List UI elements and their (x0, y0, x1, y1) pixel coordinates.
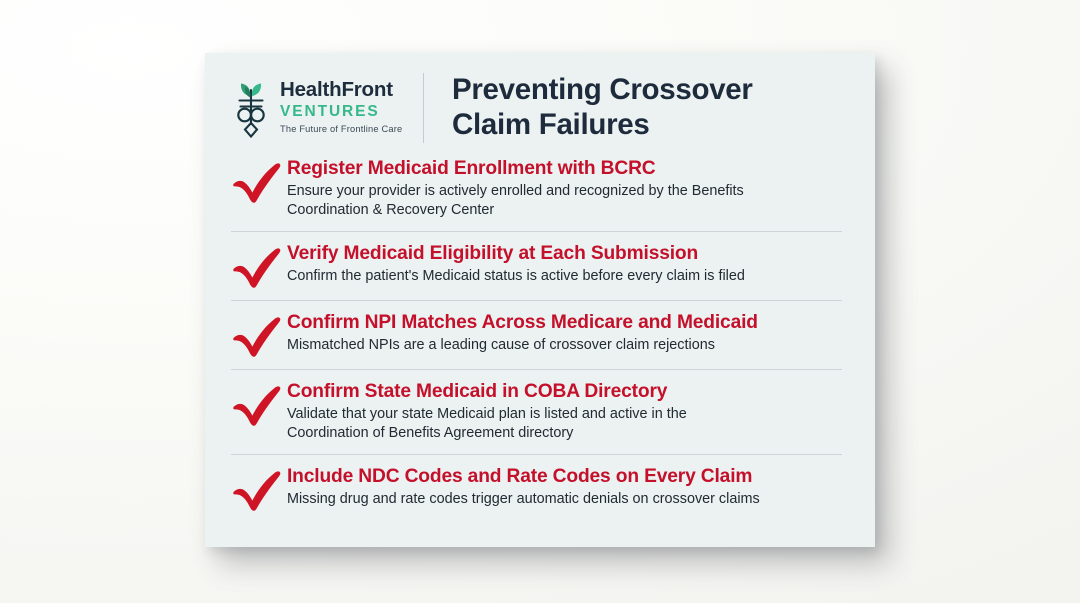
infographic-card: HealthFront VENTURES The Future of Front… (205, 53, 875, 547)
red-checkmark-icon (231, 312, 287, 358)
list-item-description: Ensure your provider is actively enrolle… (287, 182, 842, 220)
caduceus-leaf-icon (231, 77, 271, 139)
list-item-title: Confirm State Medicaid in COBA Directory (287, 381, 842, 403)
list-item-description: Validate that your state Medicaid plan i… (287, 405, 842, 443)
list-item-title: Confirm NPI Matches Across Medicare and … (287, 312, 842, 334)
page-title: Preventing Crossover Claim Failures (452, 73, 753, 143)
header-vertical-divider (423, 73, 424, 143)
list-item: Verify Medicaid Eligibility at Each Subm… (231, 231, 842, 300)
list-item: Confirm NPI Matches Across Medicare and … (231, 300, 842, 369)
brand-name: HealthFront (280, 80, 402, 101)
brand-tagline: The Future of Frontline Care (280, 125, 402, 134)
list-item-description: Missing drug and rate codes trigger auto… (287, 490, 842, 509)
checklist: Register Medicaid Enrollment with BCRC E… (205, 145, 875, 523)
list-item-title: Register Medicaid Enrollment with BCRC (287, 158, 842, 180)
red-checkmark-icon (231, 243, 287, 289)
brand-subname: VENTURES (280, 104, 402, 120)
list-item: Register Medicaid Enrollment with BCRC E… (231, 145, 842, 231)
list-item-title: Include NDC Codes and Rate Codes on Ever… (287, 466, 842, 488)
list-item-title: Verify Medicaid Eligibility at Each Subm… (287, 243, 842, 265)
red-checkmark-icon (231, 466, 287, 512)
red-checkmark-icon (231, 381, 287, 427)
list-item-description: Mismatched NPIs are a leading cause of c… (287, 336, 842, 355)
list-item: Include NDC Codes and Rate Codes on Ever… (231, 454, 842, 523)
brand-logo: HealthFront VENTURES The Future of Front… (231, 77, 397, 139)
card-header: HealthFront VENTURES The Future of Front… (205, 53, 875, 145)
list-item-description: Confirm the patient's Medicaid status is… (287, 267, 842, 286)
red-checkmark-icon (231, 158, 287, 204)
list-item: Confirm State Medicaid in COBA Directory… (231, 369, 842, 454)
